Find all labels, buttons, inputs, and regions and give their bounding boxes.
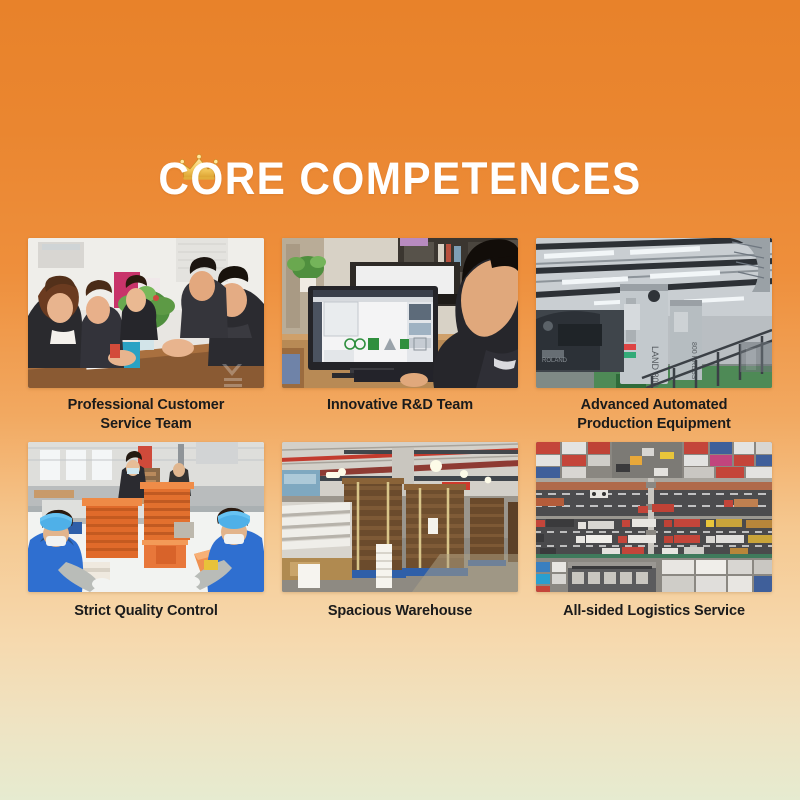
- card-professional-customer-service-team[interactable]: Professional Customer Service Team: [28, 238, 264, 434]
- caption-line-1: Strict Quality Control: [74, 603, 218, 619]
- card-caption: Innovative R&D Team: [282, 396, 518, 415]
- card-caption: Professional Customer Service Team: [28, 396, 264, 434]
- caption-line-1: Advanced Automated: [581, 397, 728, 413]
- caption-line-2: Production Equipment: [536, 415, 772, 434]
- quality-inspection-photo: [28, 442, 264, 592]
- card-strict-quality-control[interactable]: Strict Quality Control: [28, 442, 264, 621]
- card-innovative-rd-team[interactable]: Innovative R&D Team: [282, 238, 518, 434]
- meeting-room-photo: [28, 238, 264, 388]
- card-all-sided-logistics-service[interactable]: All-sided Logistics Service: [536, 442, 772, 621]
- card-caption: Spacious Warehouse: [282, 602, 518, 621]
- page-title: CORE COMPETENCES: [158, 150, 641, 208]
- caption-line-2: Service Team: [28, 415, 264, 434]
- caption-line-1: Innovative R&D Team: [327, 397, 473, 413]
- title-block: CORE COMPETENCES: [0, 150, 800, 208]
- caption-line-1: All-sided Logistics Service: [563, 603, 745, 619]
- card-spacious-warehouse[interactable]: Spacious Warehouse: [282, 442, 518, 621]
- logistics-yard-photo: [536, 442, 772, 592]
- warehouse-photo: [282, 442, 518, 592]
- competence-grid: Professional Customer Service Team: [28, 238, 772, 621]
- card-advanced-automated-production-equipment[interactable]: LAND 800 800 PRESS ROLAND: [536, 238, 772, 434]
- caption-line-1: Professional Customer: [68, 397, 225, 413]
- designer-at-computer-photo: [282, 238, 518, 388]
- svg-text:ROLAND: ROLAND: [542, 358, 568, 364]
- caption-line-1: Spacious Warehouse: [328, 603, 472, 619]
- card-caption: All-sided Logistics Service: [536, 602, 772, 621]
- card-caption: Advanced Automated Production Equipment: [536, 396, 772, 434]
- printing-press-photo: LAND 800 800 PRESS ROLAND: [536, 238, 772, 388]
- card-caption: Strict Quality Control: [28, 602, 264, 621]
